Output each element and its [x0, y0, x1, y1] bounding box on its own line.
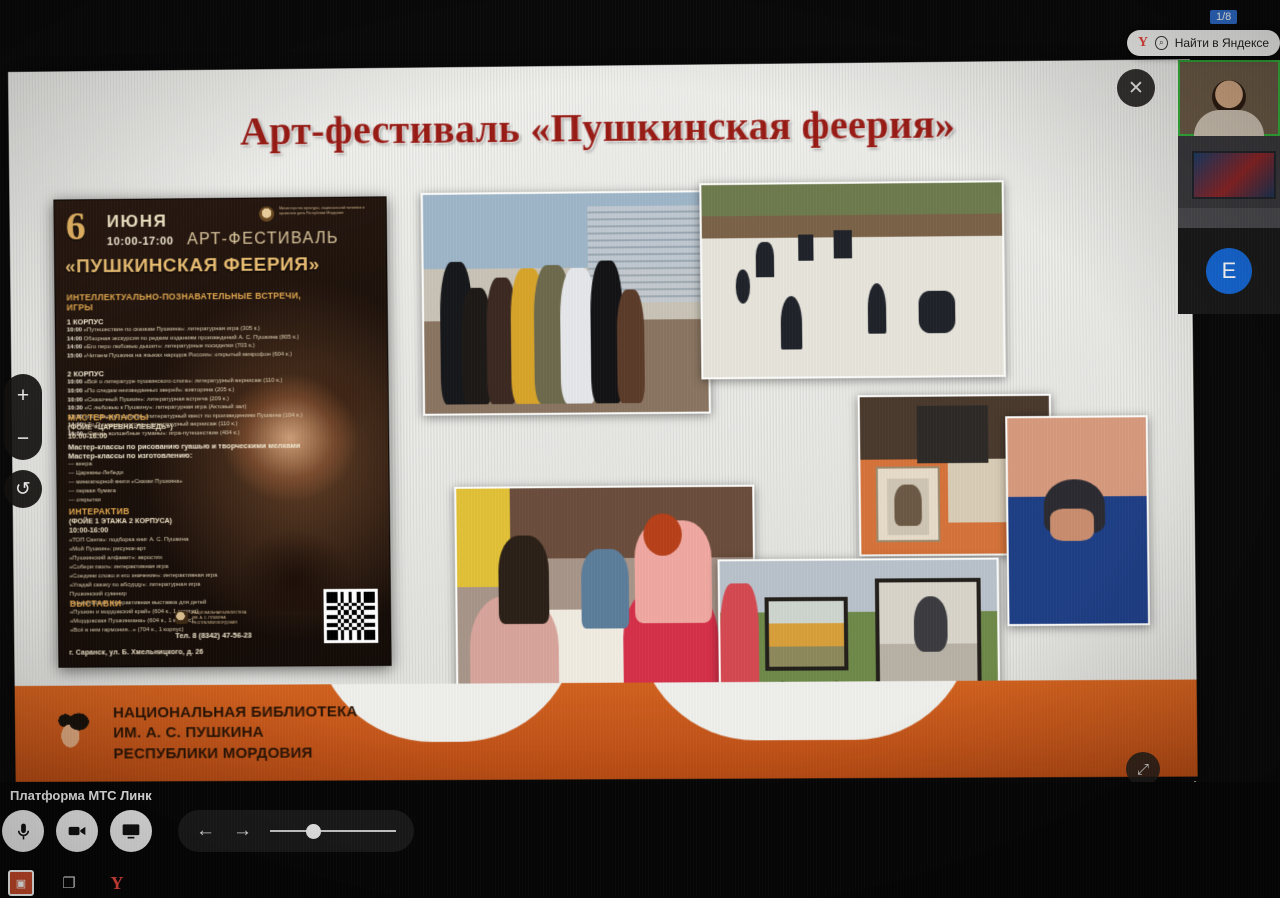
festival-poster: 6 ИЮНЯ 10:00-17:00 АРТ-ФЕСТИВАЛЬ «ПУШКИН…: [53, 196, 391, 667]
poster-address: г. Саранск, ул. Б. Хмельницкого, д. 26: [69, 649, 203, 657]
close-icon[interactable]: ✕: [1117, 69, 1155, 107]
pushkin-profile-icon: [51, 707, 100, 761]
app-title: Платформа МТС Линк: [10, 788, 152, 803]
poster-section2-time: 10:00-16:00: [68, 430, 319, 441]
poster-fest-name: «ПУШКИНСКАЯ ФЕЕРИЯ»: [65, 254, 376, 279]
silhouette-exhibition-photo: [699, 180, 1006, 379]
reset-rotate-icon[interactable]: ↺: [4, 470, 42, 508]
meeting-controls[interactable]: ← →: [0, 810, 414, 852]
yandex-search-label: Найти в Яндексе: [1175, 36, 1269, 50]
screen-share-icon[interactable]: [110, 810, 152, 852]
pushkin-bust-icon: [175, 611, 188, 624]
slide-navigation[interactable]: ← →: [178, 810, 414, 852]
avatar: E: [1206, 248, 1252, 294]
participant-face: [1212, 80, 1246, 114]
room-desk: [1178, 208, 1280, 228]
app-bottom-bar: Платформа МТС Линк: [0, 782, 1280, 898]
poster-corpus1-events: 10:00 «Путешествие по сказкам Пушкина»: …: [67, 324, 318, 361]
ministry-text: Министерство культуры, национальной поли…: [279, 205, 376, 216]
participant-room-screen[interactable]: [1178, 136, 1280, 228]
poster-month: ИЮНЯ: [107, 211, 168, 232]
ministry-crest-icon: [259, 206, 274, 221]
slide-footer-bar: НАЦИОНАЛЬНАЯ БИБЛИОТЕКА ИМ. А. С. ПУШКИН…: [15, 680, 1198, 782]
page-counter-badge: 1/8: [1210, 10, 1237, 24]
poster-library-logo: НАЦИОНАЛЬНАЯ БИБЛИОТЕКА ИМ. А. С. ПУШКИН…: [175, 610, 246, 626]
prev-slide-icon[interactable]: ←: [196, 820, 215, 842]
zoom-slider[interactable]: [270, 810, 396, 852]
participants-strip[interactable]: E: [1178, 60, 1280, 314]
poster-time: 10:00-17:00: [107, 235, 174, 248]
yandex-logo-icon: Y: [1138, 35, 1148, 51]
search-circle-icon: ⌕: [1155, 36, 1168, 50]
task-view-icon[interactable]: ❐: [56, 870, 82, 896]
boy-crafting-photo: [1005, 415, 1150, 626]
ministry-logo: Министерство культуры, национальной поли…: [259, 205, 376, 221]
next-slide-icon[interactable]: →: [233, 820, 252, 842]
zoom-slider-track: [270, 830, 396, 832]
footer-line-2: ИМ. А. С. ПУШКИНА: [113, 723, 358, 745]
poster-phone: Тел. 8 (8342) 47-56-23: [175, 631, 252, 640]
microphone-icon[interactable]: [2, 810, 44, 852]
costumed-performers-photo: [421, 190, 711, 416]
windows-taskbar[interactable]: ⌕ ❐ Y ▣: [0, 868, 130, 898]
zoom-out-icon[interactable]: −: [17, 427, 29, 451]
room-monitor-icon: [1192, 151, 1276, 199]
page-title: Арт-фестиваль «Пушкинская феерия»: [8, 98, 1190, 157]
photos-app-icon[interactable]: ▣: [8, 870, 34, 896]
yandex-search-tooltip[interactable]: Y ⌕ Найти в Яндексе: [1127, 30, 1280, 56]
poster-section1-heading: ИНТЕЛЛЕКТУАЛЬНО-ПОЗНАВАТЕЛЬНЫЕ ВСТРЕЧИ, …: [66, 290, 317, 312]
participant-woman[interactable]: [1178, 60, 1280, 136]
footer-line-1: НАЦИОНАЛЬНАЯ БИБЛИОТЕКА: [113, 702, 358, 724]
poster-day: 6: [65, 208, 85, 245]
footer-line-3: РЕСПУБЛИКИ МОРДОВИЯ: [113, 743, 358, 765]
screen: Арт-фестиваль «Пушкинская феерия» 6 ИЮНЯ…: [0, 0, 1280, 898]
participant-avatar[interactable]: E: [1178, 228, 1280, 314]
poster-section2-line1: Мастер-классы по рисованию гуашью и твор…: [68, 441, 319, 452]
slide-surface: Арт-фестиваль «Пушкинская феерия» 6 ИЮНЯ…: [8, 59, 1198, 782]
zoom-slider-knob[interactable]: [306, 824, 321, 839]
participant-body: [1194, 110, 1264, 136]
camera-icon[interactable]: [56, 810, 98, 852]
library-logo: НАЦИОНАЛЬНАЯ БИБЛИОТЕКА ИМ. А. С. ПУШКИН…: [51, 702, 358, 765]
yandex-browser-icon[interactable]: Y: [104, 870, 130, 896]
poster-section3-time: 10:00-16:00: [69, 524, 320, 535]
zoom-in-icon[interactable]: +: [17, 384, 29, 408]
poster-library-line3: РЕСПУБЛИКИ МОРДОВИЯ: [192, 621, 246, 626]
poster-event-item: 15:00 «Читаем Пушкина на языках народов …: [67, 350, 318, 361]
presentation-slide-area[interactable]: Арт-фестиваль «Пушкинская феерия» 6 ИЮНЯ…: [8, 59, 1198, 782]
expand-icon[interactable]: ⤢: [1126, 752, 1160, 786]
poster-fest-word: АРТ-ФЕСТИВАЛЬ: [187, 230, 339, 249]
qr-code-icon: [323, 589, 378, 643]
zoom-controls[interactable]: + − ↺: [4, 374, 42, 508]
